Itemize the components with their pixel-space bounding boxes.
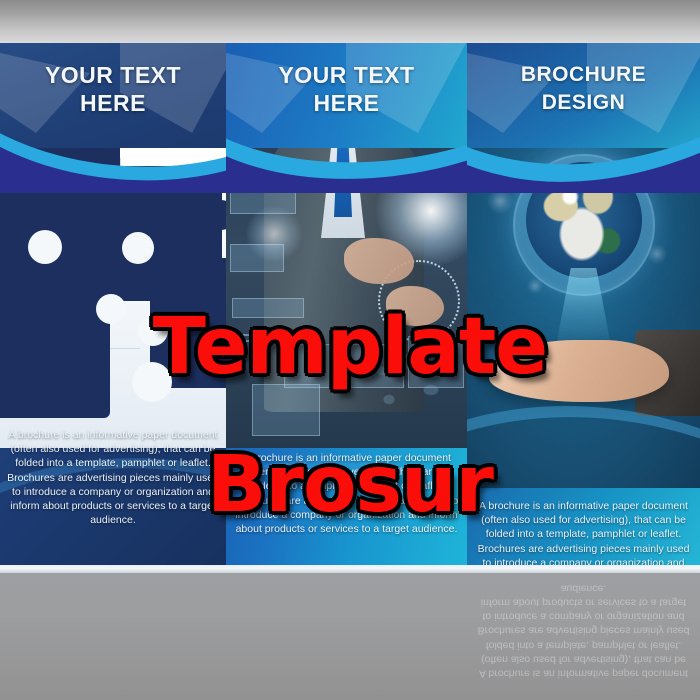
panel-middle-photo bbox=[226, 148, 467, 448]
watermark-line-2: Brosur bbox=[0, 443, 700, 527]
panel-middle-headline: YOUR TEXTHERE bbox=[226, 61, 467, 117]
reflected-body-text: A brochure is an informative paper docum… bbox=[467, 581, 700, 680]
watermark-line-1: Template bbox=[0, 305, 700, 389]
panel-left-photo bbox=[0, 148, 226, 448]
panel-left-header: YOUR TEXTHERE bbox=[0, 43, 226, 148]
surface-highlight-line bbox=[0, 565, 700, 573]
panel-middle-header: YOUR TEXTHERE bbox=[226, 43, 467, 148]
panel-right-header: BROCHUREDESIGN bbox=[467, 43, 700, 148]
brochure-reflection: A brochure is an informative paper docum… bbox=[0, 573, 700, 700]
earth-globe bbox=[526, 162, 642, 278]
light-flare bbox=[246, 206, 302, 262]
screenshot-root: YOUR TEXTHERE A brochure is an informati… bbox=[0, 0, 700, 700]
panel-right-headline: BROCHUREDESIGN bbox=[467, 61, 700, 117]
panel-left-headline: YOUR TEXTHERE bbox=[0, 61, 226, 117]
background-top-band bbox=[0, 0, 700, 43]
